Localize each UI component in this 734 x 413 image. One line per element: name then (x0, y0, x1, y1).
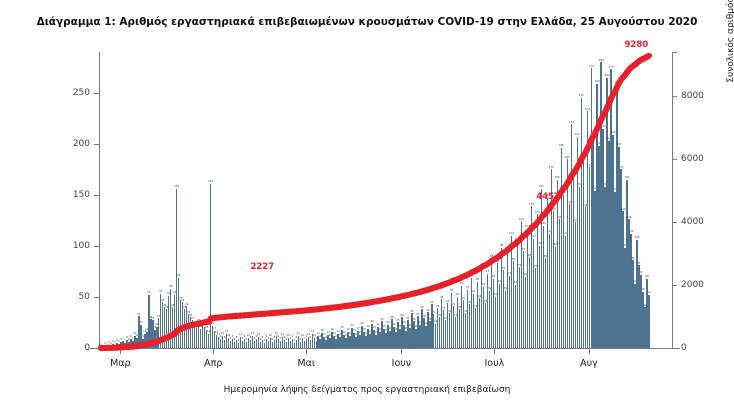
chart-title: Διάγραμμα 1: Αριθμός εργαστηριακά επιβεβ… (0, 16, 734, 28)
y-axis-left-tick-label: 200 (50, 139, 90, 149)
cumulative-value-annotation: 4457 (536, 192, 560, 202)
cumulative-line-marker (580, 153, 586, 159)
y-axis-right-title: Συνολικός αριθμός κρουσμάτων (726, 0, 734, 110)
y-axis-right-tick (672, 159, 677, 160)
cumulative-line-marker (564, 180, 570, 186)
y-axis-left-tick-label: 100 (50, 241, 90, 251)
y-axis-right-cap-top (672, 52, 677, 53)
y-axis-left-tick (94, 246, 99, 247)
cumulative-line-marker (544, 208, 550, 214)
y-axis-left-tick-label: 50 (50, 292, 90, 302)
x-axis-title: Ημερομηνία λήψης δείγματος προς εργαστηρ… (0, 385, 734, 395)
y-axis-right-tick (672, 222, 677, 223)
x-axis-tick-label: Απρ (183, 358, 243, 369)
x-axis-tick-label: Μαι (276, 358, 336, 369)
x-axis-tick-label: Ιουν (371, 358, 431, 369)
cumulative-line-marker (572, 168, 578, 174)
cumulative-line-marker (608, 95, 614, 101)
x-axis-tick (213, 348, 214, 354)
x-axis-tick (589, 348, 590, 354)
y-axis-right-tick-label: 8000 (681, 91, 721, 101)
cumulative-line-marker (536, 217, 542, 223)
y-axis-right-tick (672, 285, 677, 286)
y-axis-right-tick-label: 0 (681, 343, 721, 353)
cumulative-line-marker (588, 137, 594, 143)
cumulative-line-marker (620, 74, 626, 80)
cumulative-line-marker (568, 173, 574, 179)
chart-root: Διάγραμμα 1: Αριθμός εργαστηριακά επιβεβ… (0, 0, 734, 413)
cumulative-line-marker (592, 130, 598, 136)
y-axis-left-tick (94, 297, 99, 298)
cumulative-line-marker (600, 112, 606, 118)
x-axis-tick (306, 348, 307, 354)
cumulative-line-marker (584, 146, 590, 152)
y-axis-right-tick (672, 96, 677, 97)
cumulative-line-marker (560, 186, 566, 192)
y-axis-right-tick-label: 4000 (681, 217, 721, 227)
cumulative-line-marker (616, 80, 622, 86)
cumulative-value-annotation: 2227 (250, 262, 274, 272)
y-axis-left-tick-label: 150 (50, 190, 90, 200)
cumulative-line-marker (644, 54, 650, 60)
y-axis-right-tick-label: 6000 (681, 154, 721, 164)
cumulative-value-annotation: 9280 (624, 40, 648, 50)
y-axis-left-tick-label: 0 (50, 343, 90, 353)
x-axis-tick-label: Μαρ (90, 358, 150, 369)
y-axis-right-tick-label: 2000 (681, 280, 721, 290)
cumulative-line-marker (604, 104, 610, 110)
x-axis-tick-label: Ιουλ (464, 358, 524, 369)
cumulative-line-marker (612, 88, 618, 94)
y-axis-left-tick (94, 144, 99, 145)
cumulative-line-marker (596, 122, 602, 128)
x-axis-tick-label: Αυγ (559, 358, 619, 369)
y-axis-left-tick (94, 195, 99, 196)
y-axis-left-tick-label: 250 (50, 88, 90, 98)
x-axis-spine (90, 348, 680, 349)
cumulative-line-series (100, 52, 650, 348)
cumulative-line-marker (576, 161, 582, 167)
x-axis-tick (494, 348, 495, 354)
x-axis-tick (401, 348, 402, 354)
plot-area: 1213243546758697121031239141652282718212… (100, 52, 650, 348)
y-axis-left-tick (94, 93, 99, 94)
